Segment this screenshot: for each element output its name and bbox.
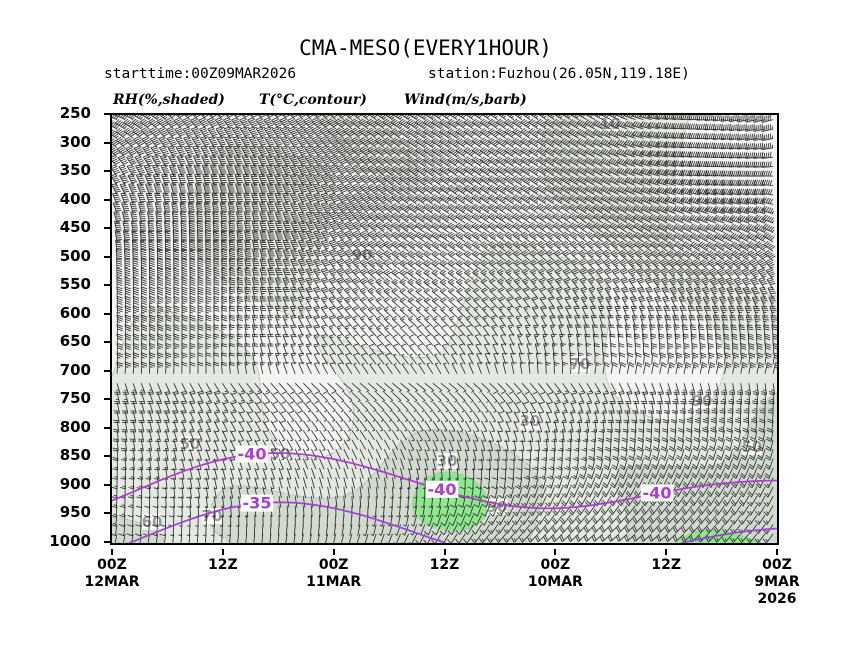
- temperature-contour-label: -40: [643, 483, 672, 502]
- y-tick-label: 500: [60, 247, 91, 265]
- legend-temperature: T(°C,contour): [259, 92, 367, 108]
- rh-contour-line: [212, 528, 213, 529]
- rh-contour-line: [241, 291, 242, 292]
- x-tick-date: 10MAR: [528, 574, 583, 590]
- y-tick: [104, 512, 111, 514]
- plot-svg: 103050505030707090906090-40-40-40-35: [112, 115, 777, 543]
- x-tick: [554, 549, 556, 555]
- rh-contour-line: [413, 496, 414, 498]
- x-tick-label: 12Z: [208, 557, 238, 573]
- rh-contour-line: [228, 487, 229, 488]
- y-tick-label: 800: [60, 418, 91, 436]
- y-tick: [104, 427, 111, 429]
- rh-contour-line: [335, 452, 336, 453]
- rh-contour-line: [351, 492, 352, 493]
- legend-rh: RH(%,shaded): [113, 92, 225, 108]
- rh-contour-line: [250, 296, 251, 297]
- rh-contour-line: [330, 498, 334, 499]
- y-tick-label: 250: [60, 104, 91, 122]
- y-tick: [104, 170, 111, 172]
- x-tick-date: 11MAR: [306, 574, 361, 590]
- y-tick: [104, 484, 111, 486]
- y-tick-label: 450: [60, 218, 91, 236]
- x-tick-time: 00Z: [84, 557, 139, 573]
- station-label: station:Fuzhou(26.05N,119.18E): [428, 66, 690, 82]
- y-tick: [104, 284, 111, 286]
- x-tick-label: 00Z10MAR: [528, 557, 583, 590]
- y-tick-label: 850: [60, 446, 91, 464]
- y-tick-label: 900: [60, 475, 91, 493]
- x-axis: 00Z12MAR12Z00Z11MAR12Z00Z10MAR12Z00Z9MAR…: [0, 549, 851, 629]
- x-tick-time: 12Z: [208, 557, 238, 573]
- legend-wind: Wind(m/s,barb): [404, 92, 527, 108]
- y-axis: 2503003504004505005506006507007508008509…: [0, 113, 103, 545]
- x-tick: [776, 549, 778, 555]
- x-tick-label: 12Z: [651, 557, 681, 573]
- y-tick-label: 600: [60, 304, 91, 322]
- x-tick-time: 00Z: [754, 557, 799, 573]
- y-tick: [104, 341, 111, 343]
- x-tick-label: 00Z11MAR: [306, 557, 361, 590]
- plot-area: 103050505030707090906090-40-40-40-35: [110, 113, 779, 545]
- y-tick-label: 750: [60, 389, 91, 407]
- rh-contour-line: [318, 347, 319, 348]
- y-tick-label: 300: [60, 133, 91, 151]
- y-tick-label: 550: [60, 275, 91, 293]
- y-tick: [104, 398, 111, 400]
- x-tick: [333, 549, 335, 555]
- x-tick: [665, 549, 667, 555]
- y-tick: [104, 313, 111, 315]
- x-tick-time: 00Z: [528, 557, 583, 573]
- y-tick: [104, 227, 111, 229]
- rh-contour-line: [536, 521, 537, 523]
- y-tick: [104, 199, 111, 201]
- rh-contour-line: [502, 447, 503, 448]
- x-tick-time: 12Z: [430, 557, 460, 573]
- wind-barb: [392, 260, 401, 270]
- rh-contour-line: [458, 320, 459, 322]
- rh-contour-line: [330, 134, 331, 135]
- y-tick: [104, 455, 111, 457]
- x-tick-time: 12Z: [651, 557, 681, 573]
- rh-contour-line: [211, 327, 212, 328]
- rh-contour-line: [347, 160, 348, 161]
- rh-contour-line: [760, 407, 761, 408]
- rh-contour-line: [213, 270, 214, 271]
- rh-contour-label: 30: [437, 452, 458, 470]
- rh-contour-line: [385, 260, 386, 261]
- y-tick: [104, 256, 111, 258]
- y-tick: [104, 142, 111, 144]
- wind-barb: [392, 269, 401, 279]
- rh-contour-line: [486, 251, 487, 252]
- x-tick-label: 00Z9MAR2026: [754, 557, 799, 607]
- rh-contour-line: [688, 120, 689, 122]
- x-tick-year: 2026: [754, 591, 799, 607]
- rh-contour-line: [598, 276, 599, 277]
- page-title: CMA-MESO(EVERY1HOUR): [0, 36, 851, 60]
- chart-canvas: CMA-MESO(EVERY1HOUR) starttime:00Z09MAR2…: [0, 0, 851, 658]
- y-tick-label: 1000: [49, 532, 91, 550]
- temperature-contour-label: -35: [243, 494, 272, 513]
- rh-contour-line: [519, 457, 520, 458]
- y-tick: [104, 541, 111, 543]
- rh-contour-line: [123, 342, 124, 343]
- x-tick-date: 12MAR: [84, 574, 139, 590]
- temperature-contour-label: -40: [238, 445, 267, 464]
- x-tick: [111, 549, 113, 555]
- y-tick-label: 700: [60, 361, 91, 379]
- y-tick-label: 350: [60, 161, 91, 179]
- x-tick-time: 00Z: [306, 557, 361, 573]
- rh-contour-line: [760, 542, 761, 543]
- y-tick-label: 950: [60, 503, 91, 521]
- x-tick-label: 00Z12MAR: [84, 557, 139, 590]
- x-tick-label: 12Z: [430, 557, 460, 573]
- y-tick-label: 650: [60, 332, 91, 350]
- x-tick: [444, 549, 446, 555]
- y-tick: [104, 370, 111, 372]
- y-tick: [104, 113, 111, 115]
- y-tick-label: 400: [60, 190, 91, 208]
- starttime-label: starttime:00Z09MAR2026: [104, 66, 296, 82]
- x-tick: [222, 549, 224, 555]
- x-tick-date: 9MAR: [754, 574, 799, 590]
- temperature-contour-label: -40: [428, 480, 457, 499]
- rh-contour-line: [771, 115, 772, 116]
